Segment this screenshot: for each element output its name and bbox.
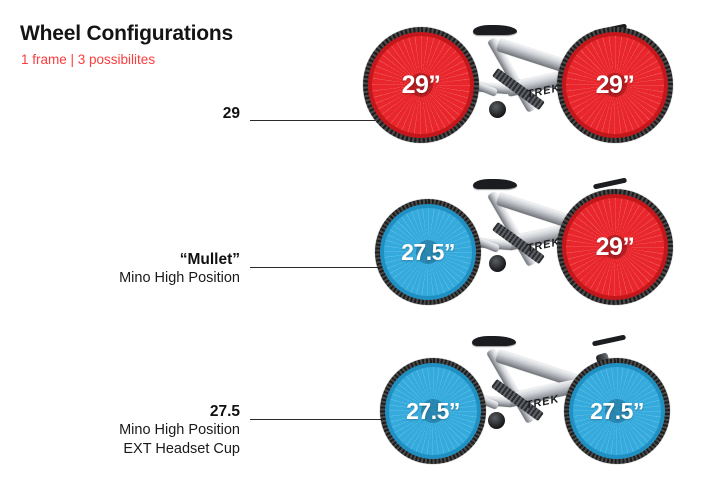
hub [603,73,627,97]
hub [421,399,445,423]
hub [409,73,433,97]
hub [605,399,629,423]
saddle [473,25,517,35]
config-1-front-wheel: 29” [557,27,673,143]
config-2-label-main: “Mullet” [0,250,240,269]
config-1-label-main: 29 [0,104,240,123]
config-3-rear-wheel: 27.5” [380,358,486,464]
config-row-1: 29 TREK 29” [0,0,720,160]
crank [489,101,506,118]
config-3-label-sub1: Mino High Position [0,421,240,440]
config-2-label-sub1: Mino High Position [0,269,240,288]
config-1-rear-wheel: 29” [363,27,479,143]
config-2-bike: TREK 27.5” 29” [355,157,705,317]
config-1-labels: 29 [0,104,240,123]
crank [488,412,505,429]
config-3-label-main: 27.5 [0,402,240,421]
hub [603,235,627,259]
saddle [472,336,516,346]
config-2-labels: “Mullet” Mino High Position [0,250,240,288]
config-3-labels: 27.5 Mino High Position EXT Headset Cup [0,402,240,459]
hub [416,240,440,264]
saddle [473,179,517,189]
config-2-rear-wheel: 27.5” [375,199,481,305]
handlebar [593,178,627,190]
handlebar [592,335,626,347]
config-3-front-wheel: 27.5” [564,358,670,464]
crank [489,255,506,272]
config-3-label-sub2: EXT Headset Cup [0,440,240,459]
config-row-2: “Mullet” Mino High Position TREK [0,157,720,317]
wheel-configurations-diagram: Wheel Configurations 1 frame | 3 possibi… [0,0,720,480]
config-row-3: 27.5 Mino High Position EXT Headset Cup … [0,312,720,480]
config-1-bike: TREK 29” 29” [355,5,705,160]
config-2-front-wheel: 29” [557,189,673,305]
config-3-bike: TREK 27.5” 27.5” [360,312,710,480]
